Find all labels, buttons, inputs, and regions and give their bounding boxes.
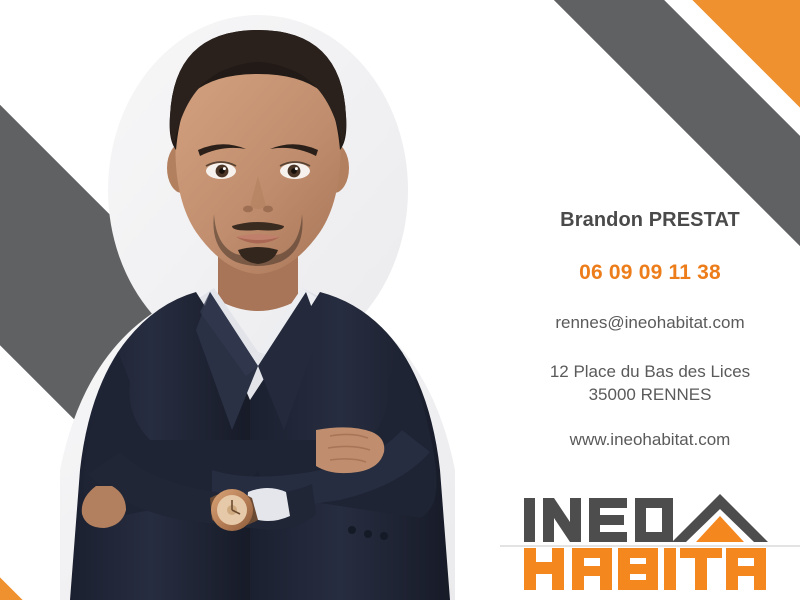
address-line-2: 35000 RENNES [500, 383, 800, 406]
person-name: Brandon PRESTAT [500, 209, 800, 232]
business-card: Brandon PRESTAT 06 09 09 11 38 rennes@in… [0, 0, 800, 600]
logo-word-habitat [524, 548, 766, 590]
website-url[interactable]: www.ineohabitat.com [500, 430, 800, 450]
postal-address: 12 Place du Bas des Lices 35000 RENNES [500, 360, 800, 406]
email-address[interactable]: rennes@ineohabitat.com [500, 313, 800, 333]
phone-number[interactable]: 06 09 09 11 38 [500, 261, 800, 285]
company-logo [522, 490, 780, 590]
roof-chevron-icon [672, 494, 768, 542]
logo-word-ineo [524, 498, 673, 542]
contact-details: Brandon PRESTAT 06 09 09 11 38 rennes@in… [500, 0, 800, 600]
address-line-1: 12 Place du Bas des Lices [500, 360, 800, 383]
portrait-photo [0, 0, 505, 600]
